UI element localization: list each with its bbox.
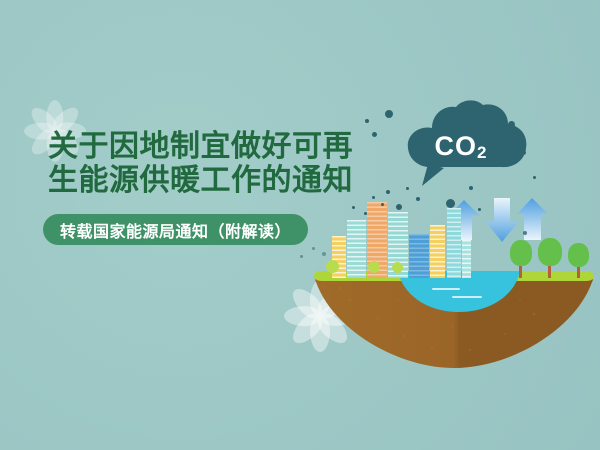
water-ripple-1 [432, 288, 460, 290]
emission-dot-22 [322, 252, 326, 256]
emission-dot-21 [312, 247, 315, 250]
emission-dot-20 [300, 255, 303, 258]
water-ripple-2 [452, 296, 482, 298]
emission-dot-11 [372, 196, 375, 199]
title-line-1: 关于因地制宜做好可再 [48, 130, 358, 163]
shrub-1 [326, 260, 339, 273]
emission-dot-16 [478, 208, 481, 211]
building-yellow-right [430, 225, 445, 278]
building-blue [409, 234, 429, 278]
emission-dot-15 [352, 206, 355, 209]
co2-label-main: CO [435, 131, 478, 161]
shrub-3 [392, 262, 403, 273]
banner-root: 关于因地制宜做好可再 生能源供暖工作的通知 转载国家能源局通知（附解读） [0, 0, 600, 450]
building-glass-tower [447, 208, 461, 278]
emission-dot-14 [364, 212, 367, 215]
subtitle-badge: 转载国家能源局通知（附解读） [43, 214, 308, 245]
emission-dot-2 [372, 132, 377, 137]
emission-dot-19 [523, 231, 527, 235]
title-line-2: 生能源供暖工作的通知 [48, 164, 358, 197]
subtitle-badge-label: 转载国家能源局通知（附解读） [60, 218, 291, 242]
co2-label: CO2 [386, 131, 536, 162]
emission-dot-10 [381, 203, 384, 206]
building-teal-far-right [462, 240, 471, 278]
emission-dot-18 [365, 119, 369, 123]
shrub-2 [368, 261, 380, 273]
building-teal-left [347, 220, 366, 278]
tree-group [508, 238, 594, 286]
co2-label-subscript: 2 [477, 143, 487, 162]
page-title: 关于因地制宜做好可再 生能源供暖工作的通知 [48, 130, 358, 197]
